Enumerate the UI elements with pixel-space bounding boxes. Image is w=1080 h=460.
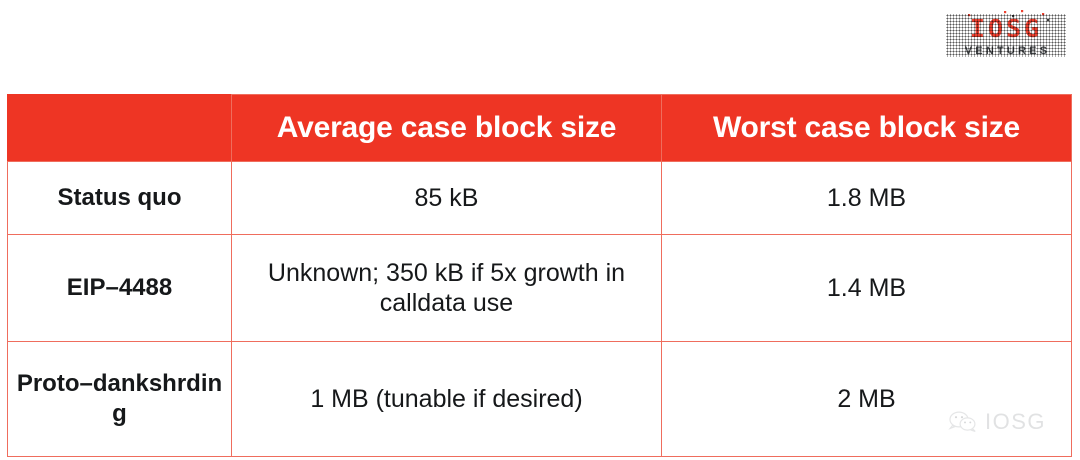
brand-tagline: VENTURES bbox=[946, 45, 1066, 57]
table-header-row: Average case block size Worst case block… bbox=[8, 95, 1072, 162]
table-body: Status quo 85 kB 1.8 MB EIP–4488 Unknown… bbox=[8, 162, 1072, 457]
table-row: EIP–4488 Unknown; 350 kB if 5x growth in… bbox=[8, 235, 1072, 342]
block-size-comparison-table: Average case block size Worst case block… bbox=[7, 94, 1071, 457]
table-header-corner bbox=[8, 95, 232, 162]
cell-status-quo-worst: 1.8 MB bbox=[662, 162, 1072, 235]
row-label-eip-4488: EIP–4488 bbox=[8, 235, 232, 342]
table-row: Proto–dankshrding 1 MB (tunable if desir… bbox=[8, 342, 1072, 457]
table-row: Status quo 85 kB 1.8 MB bbox=[8, 162, 1072, 235]
row-label-proto-danksharding: Proto–dankshrding bbox=[8, 342, 232, 457]
row-label-status-quo: Status quo bbox=[8, 162, 232, 235]
column-header-average-case: Average case block size bbox=[232, 95, 662, 162]
column-header-worst-case: Worst case block size bbox=[662, 95, 1072, 162]
cell-eip-4488-worst: 1.4 MB bbox=[662, 235, 1072, 342]
brand-logo: IOSG VENTURES bbox=[946, 14, 1066, 57]
cell-status-quo-average: 85 kB bbox=[232, 162, 662, 235]
table-header: Average case block size Worst case block… bbox=[8, 95, 1072, 162]
cell-eip-4488-average: Unknown; 350 kB if 5x growth in calldata… bbox=[232, 235, 662, 342]
cell-proto-danksharding-worst: 2 MB bbox=[662, 342, 1072, 457]
brand-wordmark: IOSG bbox=[946, 14, 1066, 44]
cell-proto-danksharding-average: 1 MB (tunable if desired) bbox=[232, 342, 662, 457]
